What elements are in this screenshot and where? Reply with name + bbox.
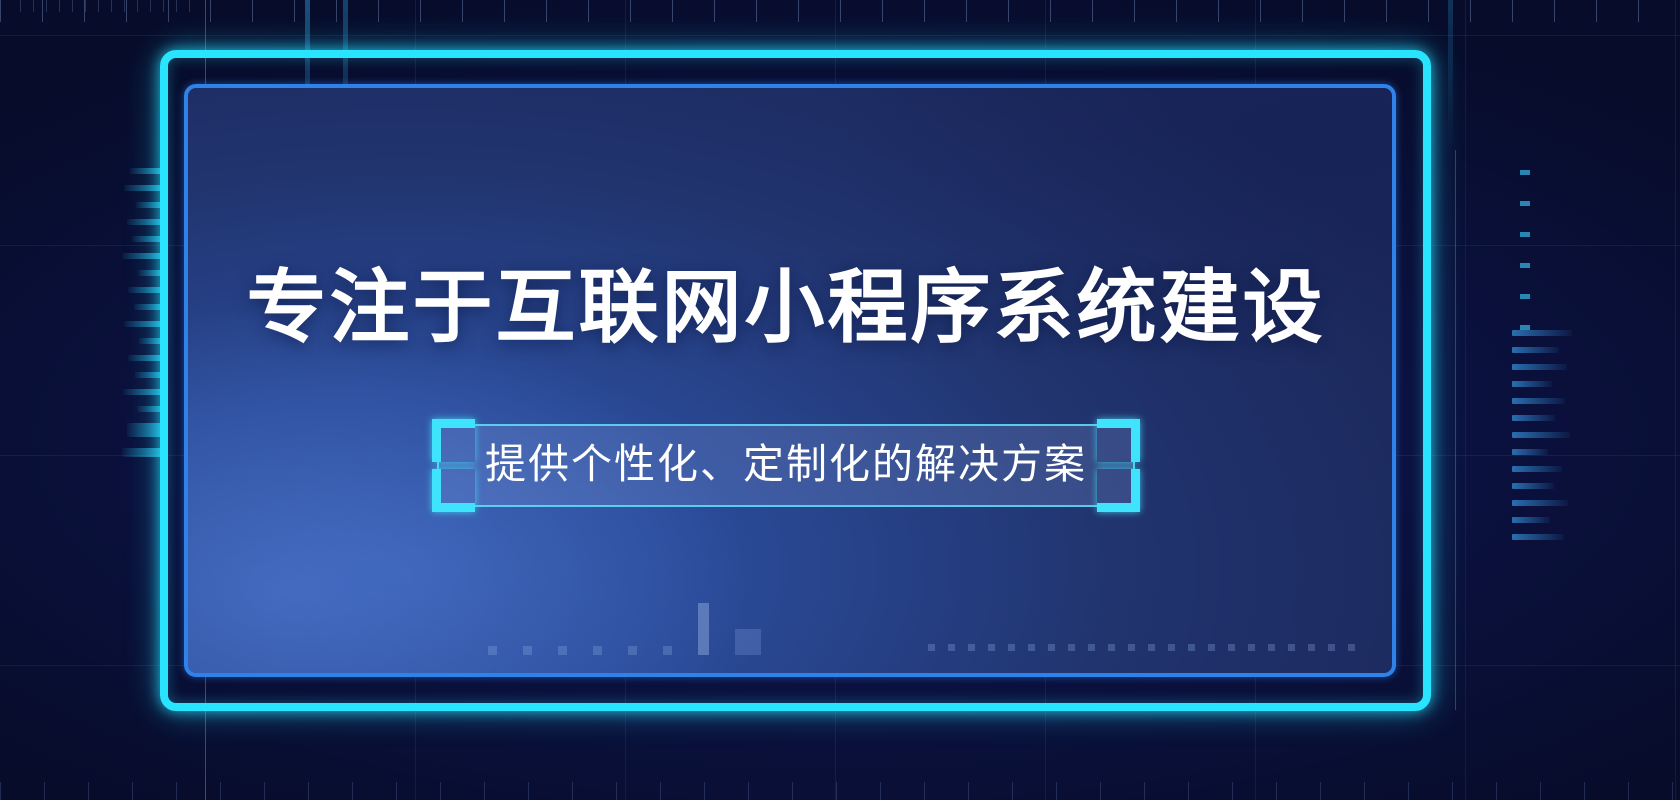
page-subtitle: 提供个性化、定制化的解决方案 <box>485 440 1087 489</box>
top-edge-ticks <box>0 0 1680 22</box>
corner-bracket-bottom-left-icon <box>432 469 475 512</box>
subtitle-bracket-box: 提供个性化、定制化的解决方案 <box>437 424 1135 507</box>
top-edge-ticks-dense <box>20 0 200 12</box>
corner-bracket-top-right-icon <box>1097 419 1140 462</box>
right-tick-marks <box>1520 170 1530 330</box>
promo-banner: 专注于互联网小程序系统建设 提供个性化、定制化的解决方案 <box>0 0 1680 800</box>
right-ladder-decoration <box>1512 330 1572 540</box>
bottom-edge-ticks <box>0 782 1680 800</box>
corner-bracket-top-left-icon <box>432 419 475 462</box>
page-title: 专注于互联网小程序系统建设 <box>247 264 1326 352</box>
banner-text-block: 专注于互联网小程序系统建设 提供个性化、定制化的解决方案 <box>184 84 1388 669</box>
light-streak <box>1448 0 1453 150</box>
corner-bracket-bottom-right-icon <box>1097 469 1140 512</box>
hairline <box>1455 150 1456 710</box>
